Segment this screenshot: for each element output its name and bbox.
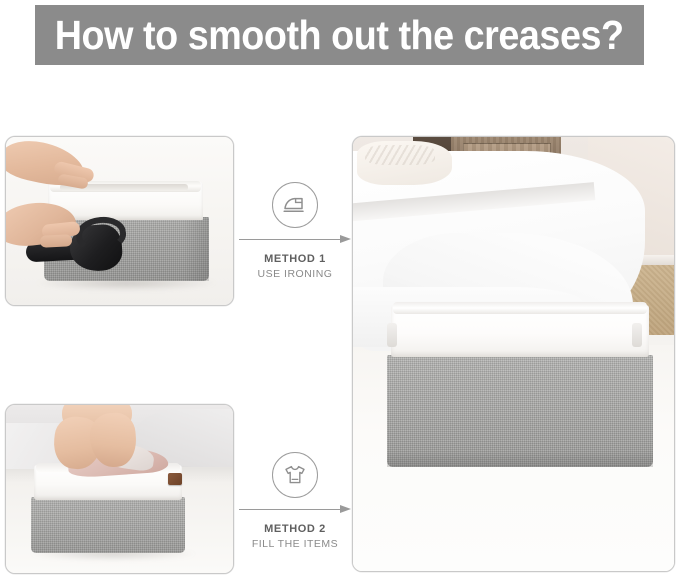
arrow-right-icon [239, 234, 351, 244]
finger-lower-2 [40, 234, 73, 248]
basket-handle-left [387, 323, 397, 347]
iron-glyph [282, 194, 308, 216]
basket-gray-body [31, 497, 185, 553]
method-2-label: METHOD 2 [235, 521, 355, 537]
tshirt-icon [272, 452, 318, 498]
page-title: How to smooth out the creases? [55, 15, 624, 56]
pillow-lace-trim [365, 145, 435, 165]
method-1-sublabel: USE IRONING [235, 267, 355, 282]
basket-gray-body [387, 355, 653, 467]
iron-icon [272, 182, 318, 228]
tshirt-glyph [282, 463, 308, 487]
method-1-label: METHOD 1 [235, 251, 355, 267]
header-banner: How to smooth out the creases? [35, 5, 644, 65]
method-1-block: METHOD 1 USE IRONING [235, 182, 355, 282]
bedroom-basket-photo [353, 137, 674, 571]
arrow-shaft [239, 509, 341, 510]
method-2-sublabel: FILL THE ITEMS [235, 537, 355, 552]
photo-panel-filling [5, 404, 234, 574]
basket-rim [393, 302, 647, 314]
basket-handle-right [632, 323, 642, 347]
leather-tag [168, 473, 182, 485]
arrow-head [340, 505, 351, 513]
method-2-block: METHOD 2 FILL THE ITEMS [235, 452, 355, 552]
hands-ironing-basket-photo [6, 137, 233, 305]
hands-filling-basket-photo [6, 405, 233, 573]
photo-panel-ironing [5, 136, 234, 306]
arrow-head [340, 235, 351, 243]
arrow-right-icon [239, 504, 351, 514]
photo-panel-bedroom [352, 136, 675, 572]
arrow-shaft [239, 239, 341, 240]
